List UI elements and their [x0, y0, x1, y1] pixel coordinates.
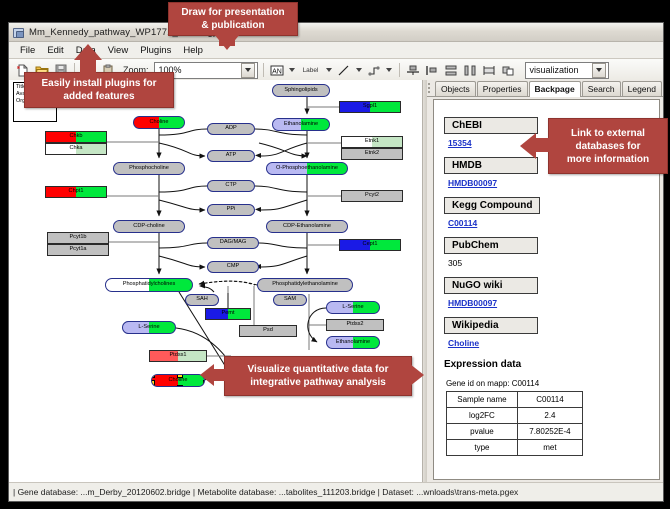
callout-draw-arrow-stem — [219, 34, 235, 46]
gene-node-label: Pemt — [221, 311, 234, 317]
gene-node-label: Ptdss2 — [346, 322, 363, 328]
metabolite-node[interactable]: PPi — [207, 204, 255, 216]
expression-value: 7.80252E-4 — [517, 424, 582, 440]
tab-grip-handle[interactable] — [428, 81, 432, 94]
gene-node[interactable]: Psd — [239, 325, 297, 337]
title-bar: Mm_Kennedy_pathway_WP1771_45176.gpml — [9, 23, 663, 42]
callout-plugins-text: Easily install plugins foradded features — [41, 77, 156, 103]
callout-visualize-data: Visualize quantitative data forintegrati… — [224, 356, 412, 396]
gene-node-label: Ptdss1 — [169, 353, 186, 359]
expression-key: pvalue — [446, 424, 517, 440]
database-link[interactable]: HMDB00097 — [448, 298, 649, 308]
expression-data-title: Expression data — [444, 359, 649, 370]
expression-key: log2FC — [446, 408, 517, 424]
table-row: log2FC2.4 — [446, 408, 582, 424]
menu-view[interactable]: View — [102, 44, 134, 57]
gene-node[interactable]: Pcyt1b — [47, 232, 109, 244]
gene-node-label: Etnk2 — [365, 151, 379, 157]
align-left-icon[interactable] — [424, 62, 441, 79]
database-link[interactable]: C00114 — [448, 218, 649, 228]
metabolite-node-label: Phosphatidylcholines — [123, 282, 176, 288]
selection-handle[interactable] — [177, 385, 183, 387]
metabolite-node-label: Choline — [169, 378, 188, 384]
metabolite-node-label: CMP — [227, 264, 239, 270]
database-header: Wikipedia — [444, 317, 538, 334]
visualization-chevron-down-icon[interactable] — [592, 63, 606, 78]
stack-vertical-icon[interactable] — [443, 62, 460, 79]
metabolite-node[interactable]: CDP-choline — [113, 220, 185, 233]
database-header: Kegg Compound — [444, 197, 541, 214]
gene-node[interactable]: Pemt — [205, 308, 251, 320]
metabolite-node[interactable]: O-Phosphoethanolamine — [266, 162, 348, 175]
metabolite-node-label: Phosphatidylethanolamine — [272, 282, 338, 288]
metabolite-node-label: Ethanolamine — [336, 340, 370, 346]
metabolite-node[interactable]: L-Serine — [326, 301, 380, 314]
expression-table: Sample nameC00114log2FC2.4pvalue7.80252E… — [446, 391, 583, 456]
gene-node-label: Cept1 — [363, 242, 378, 248]
gene-node-label: Chpt1 — [69, 189, 84, 195]
gene-node[interactable]: Cept1 — [339, 239, 401, 251]
gene-node-label: Pcyt2 — [365, 193, 379, 199]
tab-search[interactable]: Search — [582, 81, 621, 96]
metabolite-node[interactable]: Choline — [151, 374, 205, 387]
metabolite-node-label: ATP — [226, 153, 236, 159]
callout-links-arrow-icon — [520, 133, 536, 159]
metabolite-node[interactable]: Phosphatidylethanolamine — [257, 278, 353, 292]
metabolite-node[interactable]: DAG/MAG — [207, 237, 259, 249]
database-header: PubChem — [444, 237, 538, 254]
metabolite-node-label: L-Serine — [342, 305, 363, 311]
database-value: 305 — [448, 258, 649, 268]
metabolite-node[interactable]: CTP — [207, 180, 255, 192]
gene-node[interactable]: Pcyt1a — [47, 244, 109, 256]
gene-node[interactable]: Ptdss1 — [149, 350, 207, 362]
metabolite-node-label: Sphingolipids — [284, 88, 317, 94]
gene-node[interactable]: Ptdss2 — [326, 319, 384, 331]
expression-key: Sample name — [446, 392, 517, 408]
bring-front-icon[interactable] — [500, 62, 517, 79]
callout-visualize-stem-right — [404, 369, 416, 381]
gene-node[interactable]: Chkb — [45, 131, 107, 143]
gene-node-label: Psd — [263, 328, 273, 334]
expression-value: C00114 — [517, 392, 582, 408]
callout-draw-text: Draw for presentation& publication — [181, 6, 284, 32]
metabolite-node[interactable]: Ethanolamine — [326, 336, 380, 349]
selection-handle[interactable] — [151, 374, 155, 378]
metabolite-node-label: SAH — [196, 297, 208, 303]
callout-plugins-arrow-stem — [80, 58, 96, 74]
database-link[interactable]: Choline — [448, 338, 649, 348]
metabolite-node[interactable]: Phosphatidylcholines — [105, 278, 193, 292]
metabolite-node-label: Choline — [150, 120, 169, 126]
label-tool-text: Label — [303, 67, 319, 74]
chevron-down-icon[interactable] — [241, 63, 255, 78]
expression-value: 2.4 — [517, 408, 582, 424]
gene-node[interactable]: Etnk1 — [341, 136, 403, 148]
menu-edit[interactable]: Edit — [41, 44, 69, 57]
line-tool-dropdown[interactable] — [355, 63, 364, 78]
database-link[interactable]: HMDB00097 — [448, 178, 649, 188]
metabolite-node[interactable]: CDP-Ethanolamine — [266, 220, 348, 233]
visualization-value: visualization — [530, 65, 579, 75]
callout-links-text: Link to externaldatabases formore inform… — [567, 127, 649, 166]
gene-id-line: Gene id on mapp: C00114 — [446, 379, 649, 388]
tab-backpage[interactable]: Backpage — [529, 81, 581, 97]
expression-value: met — [517, 440, 582, 456]
callout-visualize-arrow-left-icon — [200, 364, 214, 386]
metabolite-node-label: DAG/MAG — [220, 240, 246, 246]
metabolite-node[interactable]: Ethanolamine — [272, 118, 330, 131]
metabolite-node-label: SAM — [284, 297, 296, 303]
metabolite-node-label: O-Phosphoethanolamine — [276, 166, 338, 172]
status-text: | Gene database: ...m_Derby_20120602.bri… — [13, 487, 518, 497]
text-label-dropdown[interactable] — [288, 63, 297, 78]
metabolite-node-label: CDP-choline — [133, 224, 164, 230]
tab-properties[interactable]: Properties — [477, 81, 528, 96]
menu-plugins[interactable]: Plugins — [134, 44, 177, 57]
toolbar-separator-3 — [399, 63, 400, 77]
tab-objects[interactable]: Objects — [435, 81, 476, 96]
metabolite-node-label: Phosphocholine — [129, 166, 169, 172]
pathvisio-app-icon — [13, 27, 24, 38]
align-top-icon[interactable] — [405, 62, 422, 79]
metabolite-node-label: CDP-Ethanolamine — [283, 224, 331, 230]
metabolite-node-label: L-Serine — [138, 325, 159, 331]
metabolite-node[interactable]: ATP — [207, 150, 255, 162]
menu-file[interactable]: File — [14, 44, 41, 57]
visualization-combobox[interactable]: visualization — [525, 62, 609, 79]
gene-node-label: Pcyt1a — [69, 247, 86, 253]
side-panel-tabs: Objects Properties Backpage Search Legen… — [427, 80, 663, 97]
database-header: ChEBI — [444, 117, 538, 134]
tab-legend[interactable]: Legend — [622, 81, 662, 96]
selection-handle[interactable] — [177, 374, 183, 378]
distribute-icon[interactable] — [462, 62, 479, 79]
gene-node-label: Sgpl1 — [363, 104, 377, 110]
gene-node[interactable]: Etnk2 — [341, 148, 403, 160]
same-width-icon[interactable] — [481, 62, 498, 79]
connector-tool-dropdown[interactable] — [385, 63, 394, 78]
metabolite-node[interactable]: Sphingolipids — [272, 84, 330, 97]
gene-node[interactable]: Pcyt2 — [341, 190, 403, 202]
metabolite-node[interactable]: ADP — [207, 123, 255, 135]
connector-tool-icon[interactable] — [366, 62, 383, 79]
svg-text:AN: AN — [272, 68, 282, 75]
expression-key: type — [446, 440, 517, 456]
metabolite-node-label: PPi — [227, 207, 236, 213]
callout-draw-for-presentation: Draw for presentation& publication — [168, 2, 298, 36]
metabolite-node-label: CTP — [225, 183, 236, 189]
callout-links-arrow-stem — [536, 138, 550, 152]
metabolite-node[interactable]: CMP — [207, 261, 259, 273]
table-row: Sample nameC00114 — [446, 392, 582, 408]
metabolite-node-label: ADP — [225, 126, 237, 132]
label-tool-dropdown[interactable] — [325, 63, 334, 78]
selection-handle[interactable] — [151, 385, 155, 387]
metabolite-node[interactable]: SAH — [185, 294, 219, 306]
line-tool-icon[interactable] — [336, 62, 353, 79]
gene-node[interactable]: Sgpl1 — [339, 101, 401, 113]
callout-external-links: Link to externaldatabases formore inform… — [548, 118, 668, 174]
metabolite-node[interactable]: SAM — [273, 294, 307, 306]
gene-node-label: Chka — [69, 146, 82, 152]
gene-node[interactable]: Chpt1 — [45, 186, 107, 198]
menu-help[interactable]: Help — [177, 44, 209, 57]
status-bar: | Gene database: ...m_Derby_20120602.bri… — [9, 482, 663, 501]
callout-visualize-stem-left — [214, 369, 226, 381]
table-row: typemet — [446, 440, 582, 456]
metabolite-node[interactable]: Phosphocholine — [113, 162, 185, 175]
database-header: NuGO wiki — [444, 277, 538, 294]
callout-install-plugins: Easily install plugins foradded features — [24, 72, 174, 108]
gene-node-label: Etnk1 — [365, 139, 379, 145]
callout-visualize-text: Visualize quantitative data forintegrati… — [248, 363, 389, 389]
pathway-canvas[interactable]: Title: Availa Organi — [9, 80, 423, 483]
table-row: pvalue7.80252E-4 — [446, 424, 582, 440]
label-tool[interactable]: Label — [299, 62, 323, 79]
metabolite-node[interactable]: Choline — [133, 116, 185, 129]
gene-node[interactable]: Chka — [45, 143, 107, 155]
metabolite-node-label: Ethanolamine — [284, 122, 318, 128]
database-header: HMDB — [444, 157, 538, 174]
gene-node-label: Pcyt1b — [69, 235, 86, 241]
toolbar-separator-2 — [263, 63, 264, 77]
metabolite-node[interactable]: L-Serine — [122, 321, 176, 334]
gene-node-label: Chkb — [69, 134, 82, 140]
menu-bar: File Edit Data View Plugins Help — [9, 42, 663, 59]
text-label-icon[interactable]: AN — [269, 62, 286, 79]
